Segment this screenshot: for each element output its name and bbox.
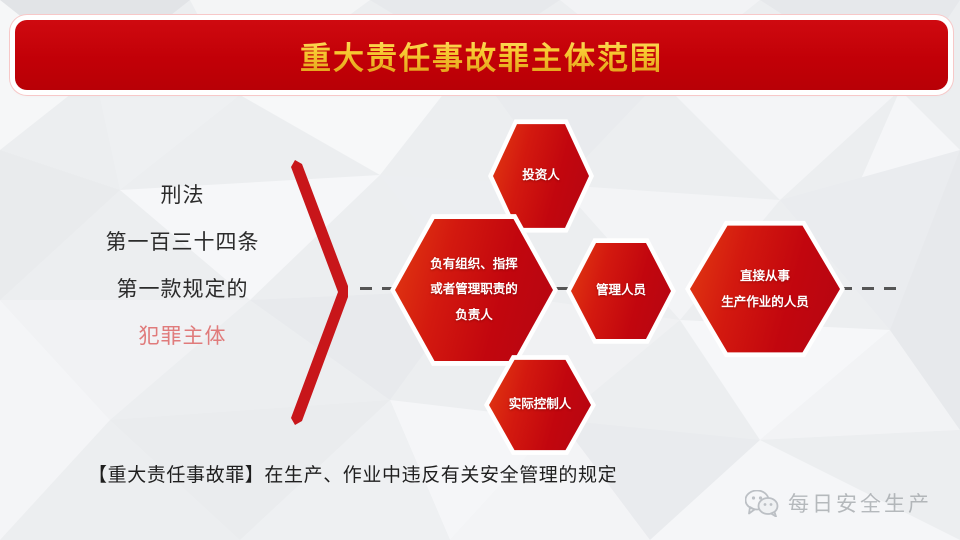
watermark-text: 每日安全生产 <box>788 488 932 518</box>
left-text-line-4-accent: 犯罪主体 <box>75 326 290 347</box>
left-text-line-2: 第一百三十四条 <box>75 232 290 253</box>
bottom-caption: 【重大责任事故罪】在生产、作业中违反有关安全管理的规定 <box>88 460 617 487</box>
hex-label-investor: 投资人 <box>516 165 566 187</box>
left-text-line-3: 第一款规定的 <box>75 279 290 300</box>
connector-dashed-right <box>840 287 906 290</box>
wechat-icon <box>745 490 779 517</box>
hex-label-worker: 直接从事 生产作业的人员 <box>715 263 815 316</box>
slide-title-bar: 重大责任事故罪主体范围 <box>15 20 948 90</box>
left-text-block: 刑法 第一百三十四条 第一款规定的 犯罪主体 <box>75 185 290 347</box>
hex-label-manager: 管理人员 <box>590 280 652 302</box>
hex-label-controller: 实际控制人 <box>503 394 578 416</box>
page-title: 重大责任事故罪主体范围 <box>300 33 663 78</box>
hex-label-leader: 负有组织、指挥 或者管理职责的 负责人 <box>424 252 524 329</box>
red-chevron-icon <box>280 160 370 425</box>
watermark: 每日安全生产 <box>745 488 932 518</box>
slide-canvas: 重大责任事故罪主体范围 刑法 第一百三十四条 第一款规定的 犯罪主体 投资人 负… <box>0 0 960 540</box>
left-text-line-1: 刑法 <box>75 185 290 206</box>
